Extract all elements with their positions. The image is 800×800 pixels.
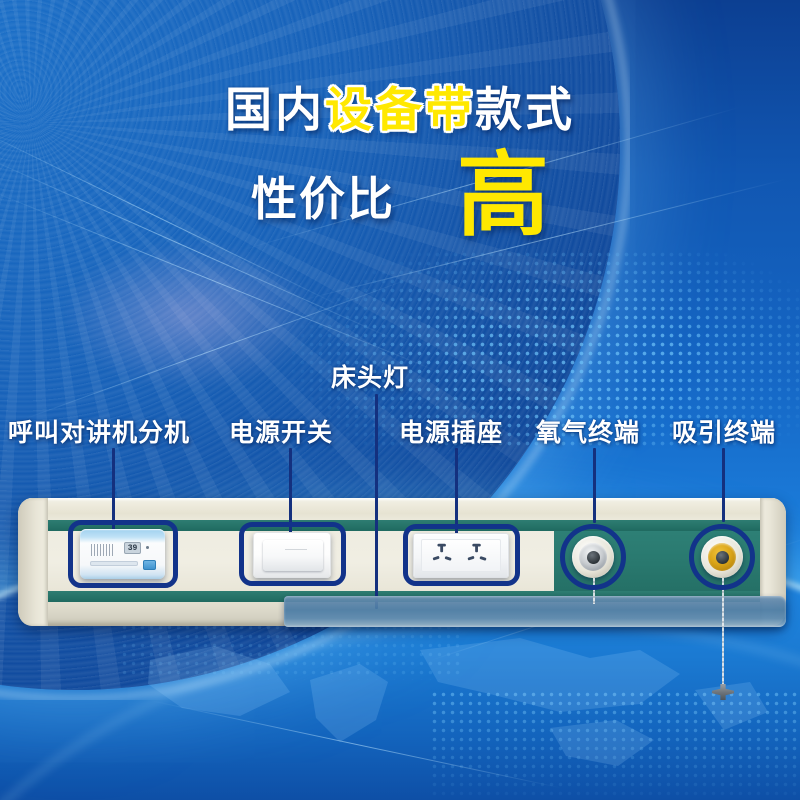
panel-lower-rail bbox=[284, 596, 786, 627]
headline-high: 高 bbox=[457, 155, 549, 238]
headline-part-equipment-belt: 设备带 bbox=[325, 83, 475, 136]
suction-terminal-unit[interactable] bbox=[701, 536, 743, 578]
promo-banner: 国内设备带款式 性价比 高 呼叫对讲机分机 电源开关 床头灯 电源插座 氧气终端… bbox=[0, 0, 800, 800]
call-button[interactable] bbox=[143, 560, 156, 570]
socket-holes-icon bbox=[421, 539, 501, 572]
headline-block: 国内设备带款式 性价比 高 bbox=[0, 86, 800, 238]
callout-label-bed-lamp: 床头灯 bbox=[331, 358, 409, 394]
callout-label-oxygen-terminal: 氧气终端 bbox=[536, 413, 640, 449]
power-switch-unit[interactable] bbox=[253, 532, 331, 578]
intercom-display: 39 bbox=[124, 542, 141, 554]
outlet-faceplate bbox=[421, 539, 501, 572]
leader-line-bed-lamp bbox=[375, 394, 378, 609]
suction-terminal-port bbox=[716, 551, 729, 564]
panel-end-cap-left bbox=[18, 498, 48, 626]
callout-label-power-switch: 电源开关 bbox=[229, 413, 333, 449]
oxygen-terminal-port bbox=[587, 551, 600, 564]
leader-line-intercom bbox=[112, 448, 115, 532]
speaker-grille-icon bbox=[91, 544, 113, 556]
oxygen-terminal-unit[interactable] bbox=[572, 536, 614, 578]
nurse-call-intercom-unit[interactable]: 39 bbox=[80, 529, 165, 579]
headline-part-style: 款式 bbox=[475, 83, 575, 136]
intercom-slot bbox=[90, 561, 138, 566]
leader-line-suction-terminal bbox=[722, 448, 725, 522]
rocker-detail-line bbox=[285, 549, 307, 550]
power-outlet-unit[interactable] bbox=[413, 533, 509, 578]
leader-line-power-outlet bbox=[455, 448, 458, 534]
headline-line-2: 性价比 高 bbox=[0, 155, 800, 238]
oxygen-terminal-cord bbox=[593, 578, 595, 604]
leader-line-power-switch bbox=[289, 448, 292, 533]
oxygen-terminal-ring bbox=[579, 543, 607, 571]
callout-label-power-outlet: 电源插座 bbox=[399, 413, 503, 449]
headline-line-1: 国内设备带款式 bbox=[0, 86, 800, 133]
headline-part-domestic: 国内 bbox=[225, 83, 325, 136]
headline-value-ratio: 性价比 bbox=[251, 163, 395, 229]
callout-label-suction-terminal: 吸引终端 bbox=[672, 413, 776, 449]
pull-cord[interactable] bbox=[722, 578, 724, 692]
indicator-led-icon bbox=[146, 546, 149, 549]
leader-line-oxygen-terminal bbox=[593, 448, 596, 523]
callout-label-intercom: 呼叫对讲机分机 bbox=[8, 413, 190, 449]
suction-terminal-ring bbox=[708, 543, 736, 571]
rocker-switch[interactable] bbox=[263, 540, 323, 571]
